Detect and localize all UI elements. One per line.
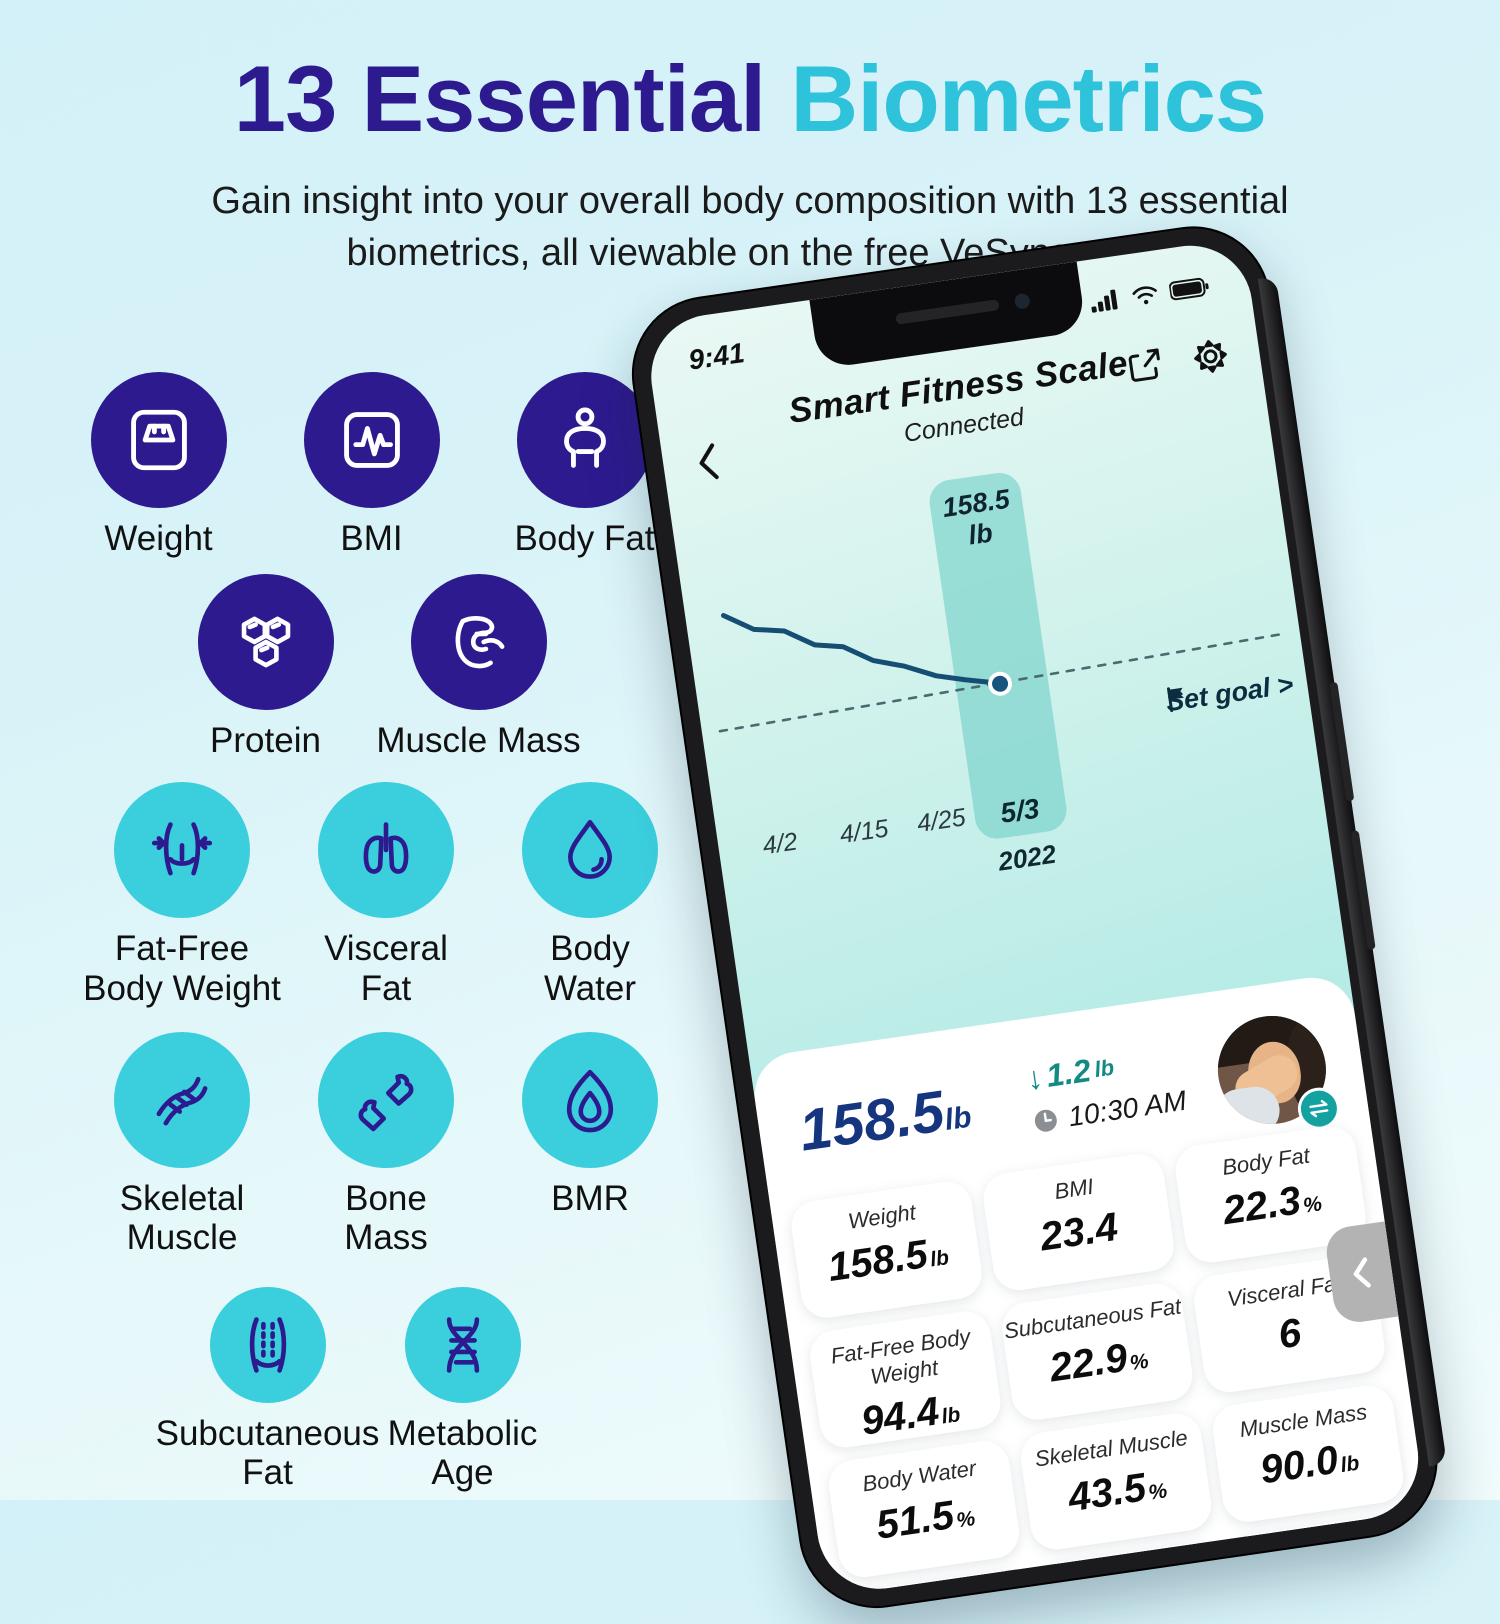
biometric-item-fat-free-body-weight[interactable]: Fat-Free Body Weight [80,782,284,1007]
icon-row: Weight BMI Body Fat [52,372,692,558]
muscle-fiber-icon [114,1032,250,1168]
biometric-item-bmr[interactable]: BMR [488,1032,692,1257]
biometric-label: Muscle Mass [376,721,580,760]
biometric-item-bmi[interactable]: BMI [265,372,478,558]
status-indicators [1089,275,1211,314]
biometric-item-metabolic-age[interactable]: Metabolic Age [365,1287,560,1492]
biometric-label: Protein [210,721,321,760]
metric-label: Fat-Free Body Weight [809,1321,997,1398]
metric-card-bmi[interactable]: BMI 23.4 [980,1151,1177,1294]
biometric-item-muscle-mass[interactable]: Muscle Mass [372,574,585,760]
metric-value: 6 [1276,1310,1306,1358]
delta-arrow-icon: ↓ [1024,1059,1045,1098]
metric-card-body-water[interactable]: Body Water 51.5% [826,1438,1023,1581]
metric-label: BMR [1296,1534,1348,1567]
biometric-label: Visceral Fat [324,929,448,1007]
body-icon [517,372,653,508]
heartbeat-icon [304,372,440,508]
metric-value: 22.9% [1047,1333,1151,1392]
dna-icon [405,1287,521,1403]
x-tick: 4/15 [838,814,890,850]
metric-card-weight[interactable]: Weight 158.5lb [788,1178,985,1321]
biometric-label: Body Water [544,929,636,1007]
current-weight: 158.5lb [795,1074,975,1165]
metric-value: 158.5lb [825,1229,951,1291]
metric-label: Subcutaneous Fat [1002,1293,1182,1344]
metric-value: 22.3% [1220,1175,1324,1234]
metric-value: 94.4lb [859,1386,963,1445]
phone-body: 9:41 [622,216,1448,1618]
status-time: 9:41 [687,337,747,377]
metric-value: 17.7% [1084,1592,1188,1597]
metric-label: BMI [1053,1174,1095,1205]
metric-card-bmr[interactable]: BMR 1307 [1228,1512,1425,1597]
biometric-item-visceral-fat[interactable]: Visceral Fat [284,782,488,1007]
waist-icon [114,782,250,918]
x-tick: 4/2 [761,827,800,861]
torso-skin-icon [210,1287,326,1403]
metric-value: 51.5% [873,1490,977,1549]
biometric-label: Metabolic Age [388,1414,538,1492]
biometric-item-weight[interactable]: Weight [52,372,265,558]
icon-row: Subcutaneous Fat Metabolic Age [170,1287,692,1492]
biometric-item-protein[interactable]: Protein [159,574,372,760]
share-icon[interactable] [1124,344,1167,387]
flexed-arm-icon [411,574,547,710]
x-tick-selected: 5/3 [998,793,1041,830]
metric-card-fat-free-body-weight[interactable]: Fat-Free Body Weight 94.4lb [807,1308,1004,1451]
swap-icon [1306,1096,1331,1121]
metric-label: Skeletal Muscle [1033,1425,1189,1473]
x-tick: 4/25 [915,803,967,839]
page-title: 13 Essential Biometrics [0,52,1500,146]
phone-screen: 9:41 [643,238,1426,1597]
bone-icon [318,1032,454,1168]
gear-icon[interactable] [1189,335,1232,378]
biometrics-icon-grid: Weight BMI Body Fat [52,372,692,1493]
biometric-item-bone-mass[interactable]: Bone Mass [284,1032,488,1257]
metric-label: Weight [846,1199,917,1234]
biometric-label: Body Fat [514,519,654,558]
clock-icon [1031,1106,1060,1135]
metric-card-skeletal-muscle[interactable]: Skeletal Muscle 43.5% [1018,1410,1215,1553]
battery-full-icon [1168,276,1210,302]
metric-card-muscle-mass[interactable]: Muscle Mass 90.0lb [1210,1382,1407,1525]
phone-mockup: 9:41 [622,208,1500,1624]
measurement-time-label: 10:30 AM [1066,1085,1188,1134]
flag-icon [1164,684,1191,713]
water-drop-icon [522,782,658,918]
metric-label: Bone Mass [882,1585,995,1597]
biometric-label: Subcutaneous Fat [156,1414,380,1492]
weight-delta: ↓ 1.2 lb [1024,1049,1116,1098]
icon-row: Protein Muscle Mass [159,574,692,760]
metric-value: 90.0lb [1258,1435,1362,1494]
delta-value: 1.2 [1044,1052,1093,1095]
metric-value: 43.5% [1066,1462,1170,1521]
page-title-part1: 13 Essential [234,46,765,151]
front-camera-icon [1014,293,1031,310]
delta-unit: lb [1093,1054,1116,1083]
biometric-item-skeletal-muscle[interactable]: Skeletal Muscle [80,1032,284,1257]
biometric-label: Skeletal Muscle [120,1179,245,1257]
biometric-item-subcutaneous-fat[interactable]: Subcutaneous Fat [170,1287,365,1492]
weight-trend-chart[interactable]: 158.5lb 4/2 4/15 4/25 5/3 2022 [670,426,1331,938]
biometric-label: BMI [340,519,402,558]
biometric-item-body-water[interactable]: Body Water [488,782,692,1007]
metric-value: 1307 [1280,1565,1376,1597]
earpiece-speaker-icon [895,299,1000,325]
honeycomb-icon [198,574,334,710]
icon-row: Skeletal Muscle Bone Mass BMR [80,1032,692,1257]
wifi-icon [1130,282,1161,308]
cellular-bars-icon [1089,288,1122,314]
scale-icon [91,372,227,508]
metric-label: Body Fat [1221,1143,1312,1181]
biometric-label: Weight [104,519,212,558]
metric-card-protein[interactable]: Protein 17.7% [1036,1540,1233,1597]
page-title-part2: Biometrics [790,46,1266,151]
metric-cards-grid: Weight 158.5lb BMI 23.4 Body [788,1123,1426,1597]
biometric-label: BMR [551,1179,629,1218]
flame-icon [522,1032,658,1168]
lungs-icon [318,782,454,918]
metric-label: Protein [1094,1561,1167,1597]
icon-row: Fat-Free Body Weight Visceral Fat Body W… [80,782,692,1007]
metric-value: 23.4 [1037,1204,1122,1260]
metric-card-subcutaneous-fat[interactable]: Subcutaneous Fat 22.9% [999,1280,1196,1423]
metric-label: Visceral Fat [1225,1270,1343,1312]
chevron-left-icon [1347,1255,1378,1292]
metrics-sheet: 158.5lb ↓ 1.2 lb 10:30 AM [749,972,1426,1597]
biometric-label: Bone Mass [344,1179,428,1257]
biometric-label: Fat-Free Body Weight [83,929,281,1007]
